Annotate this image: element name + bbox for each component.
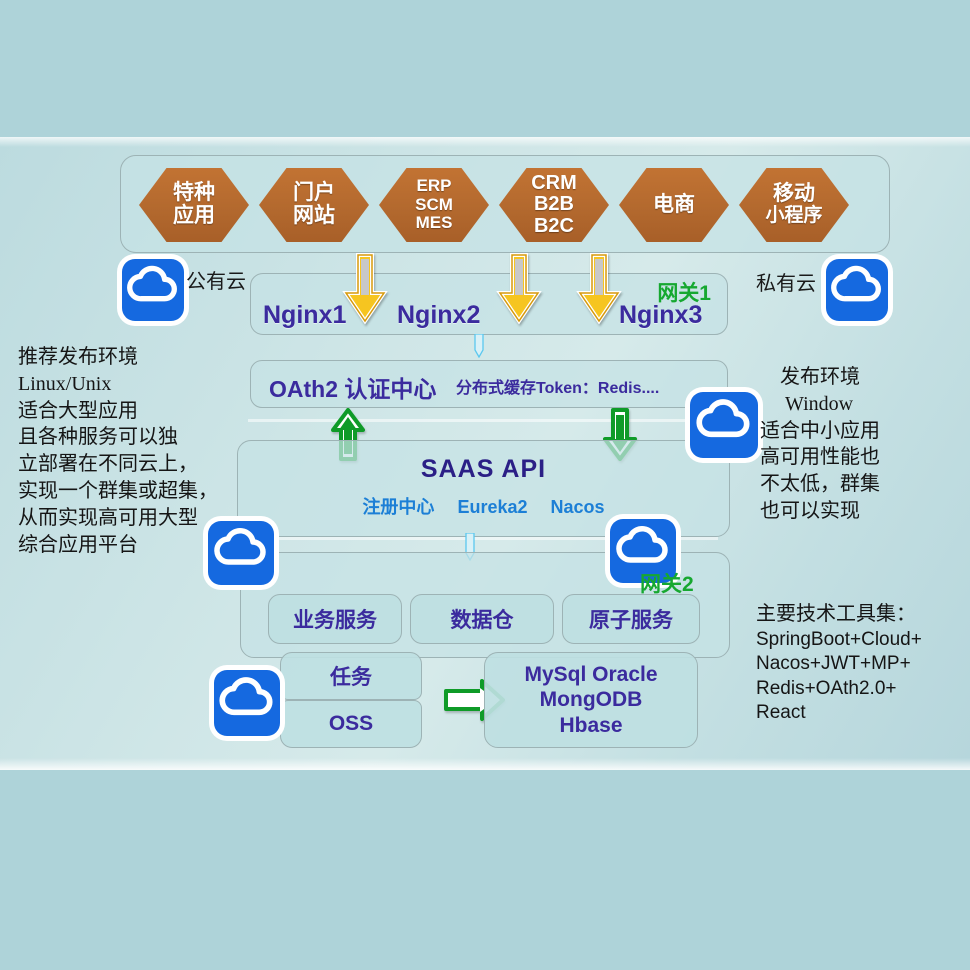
db-line: MySql Oracle xyxy=(524,662,657,688)
database-box[interactable]: MySql Oracle MongODB Hbase xyxy=(484,652,698,748)
hex-line: B2C xyxy=(534,216,574,238)
registry-label: 注册中心 xyxy=(362,497,434,517)
tech-stack-heading: 主要技术工具集： xyxy=(756,602,966,628)
public-cloud-label: 公有云 xyxy=(186,265,246,294)
connector-arrow-icon xyxy=(472,334,486,358)
service-box-datawarehouse[interactable]: 数据仓 xyxy=(410,594,554,644)
app-hex-crm[interactable]: CRM B2B B2C xyxy=(499,168,609,242)
hex-line: 特种 xyxy=(173,182,215,205)
nginx-2-label: Nginx2 xyxy=(397,301,480,330)
oauth2-title: OAth2 认证中心 xyxy=(269,370,436,404)
db-line: MongODB xyxy=(540,687,643,713)
registry-row: 注册中心 Eureka2 Nacos xyxy=(238,493,729,519)
hex-line: B2B xyxy=(534,194,574,216)
hex-line: 门户 xyxy=(293,182,335,205)
gateway2-label: 网关2 xyxy=(640,568,694,598)
diagram-canvas: 特种 应用 门户 网站 ERP SCM MES CRM B2B B2C 电商 移… xyxy=(0,0,970,970)
hex-line: 移动 xyxy=(773,183,815,206)
cloud-icon[interactable] xyxy=(826,259,888,321)
cloud-icon[interactable] xyxy=(214,670,280,736)
gold-down-arrow-icon xyxy=(576,253,622,325)
cloud-icon[interactable] xyxy=(122,259,184,321)
service-box-atomic[interactable]: 原子服务 xyxy=(562,594,700,644)
auth-center-panel: OAth2 认证中心 分布式缓存Token：Redis.... xyxy=(250,360,728,408)
nginx-1-label: Nginx1 xyxy=(263,301,346,330)
service-box-oss[interactable]: OSS xyxy=(280,700,422,748)
hex-line: 应用 xyxy=(173,205,215,228)
hex-line: SCM xyxy=(415,196,453,214)
hex-line: ERP xyxy=(417,177,452,195)
hex-line: CRM xyxy=(531,173,577,195)
app-hex-erp[interactable]: ERP SCM MES xyxy=(379,168,489,242)
tech-stack-body: SpringBoot+Cloud+ Nacos+JWT+MP+ Redis+OA… xyxy=(756,629,922,723)
left-note-text: 推荐发布环境 Linux/Unix 适合大型应用 且各种服务可以独 立部署在不同… xyxy=(18,344,233,558)
service-box-business[interactable]: 业务服务 xyxy=(268,594,402,644)
hex-line: 小程序 xyxy=(765,206,822,227)
tech-stack-note: 主要技术工具集：SpringBoot+Cloud+ Nacos+JWT+MP+ … xyxy=(756,578,966,725)
app-hex-portal[interactable]: 门户 网站 xyxy=(259,168,369,242)
gateway1-label: 网关1 xyxy=(657,277,711,307)
right-note-text: 发布环境 Window 适合中小应用 高可用性能也 不太低，群集 也可以实现 xyxy=(760,364,965,525)
gateway-nginx-panel: Nginx1 Nginx2 Nginx3 网关1 xyxy=(250,273,728,335)
cloud-icon[interactable] xyxy=(690,392,758,458)
db-line: Hbase xyxy=(559,713,622,739)
app-hex-special[interactable]: 特种 应用 xyxy=(139,168,249,242)
service-box-task[interactable]: 任务 xyxy=(280,652,422,700)
token-cache-label: 分布式缓存Token：Redis.... xyxy=(456,374,659,398)
application-layer-panel: 特种 应用 门户 网站 ERP SCM MES CRM B2B B2C 电商 移… xyxy=(120,155,890,253)
divider-line xyxy=(248,419,718,422)
registry-eureka: Eureka2 xyxy=(457,497,527,517)
hex-line: 电商 xyxy=(653,194,695,217)
private-cloud-label: 私有云 xyxy=(756,267,816,296)
saas-api-title: SAAS API xyxy=(238,455,729,484)
gold-down-arrow-icon xyxy=(342,253,388,325)
gold-down-arrow-icon xyxy=(496,253,542,325)
hex-line: MES xyxy=(416,214,453,232)
app-hex-mobile[interactable]: 移动 小程序 xyxy=(739,168,849,242)
app-hex-ecommerce[interactable]: 电商 xyxy=(619,168,729,242)
registry-nacos: Nacos xyxy=(551,497,605,517)
hex-line: 网站 xyxy=(293,205,335,228)
